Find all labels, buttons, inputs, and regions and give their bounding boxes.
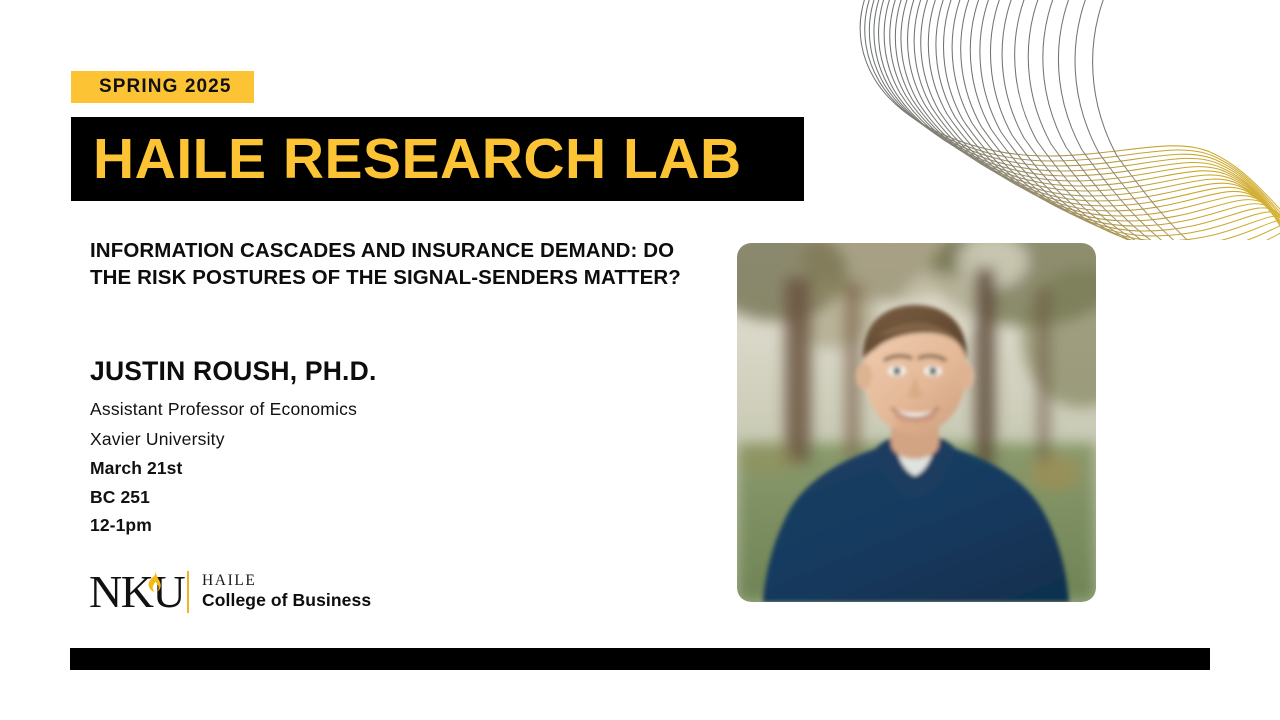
event-flyer-slide: SPRING 2025 HAILE RESEARCH LAB Informati…	[0, 0, 1280, 720]
logo-haile-label: HAILE	[202, 572, 371, 590]
event-date: March 21st	[90, 454, 650, 483]
event-location: BC 251	[90, 483, 650, 512]
season-badge: SPRING 2025	[71, 71, 254, 103]
swirl-lines-decoration	[770, 0, 1280, 240]
event-time: 12-1pm	[90, 511, 650, 540]
nku-letters: NKU	[89, 569, 184, 615]
speaker-details: Justin Roush, Ph.D. Assistant Professor …	[90, 356, 650, 540]
speaker-affiliation: Xavier University	[90, 424, 650, 454]
talk-title: Information Cascades and Insurance Deman…	[90, 237, 690, 292]
logo-college-label: College of Business	[202, 590, 371, 612]
season-badge-label: SPRING 2025	[99, 76, 232, 98]
speaker-photo	[737, 243, 1096, 602]
logo-divider	[187, 571, 189, 613]
nku-haile-logo: NKU HAILE College of Business	[89, 566, 371, 618]
logo-text-group: HAILE College of Business	[202, 572, 371, 613]
speaker-name: Justin Roush, Ph.D.	[90, 356, 650, 388]
speaker-position: Assistant Professor of Economics	[90, 394, 650, 424]
nku-wordmark: NKU	[89, 569, 173, 615]
footer-bar	[70, 648, 1210, 670]
series-title-banner: HAILE RESEARCH LAB	[71, 117, 804, 201]
flame-icon	[146, 571, 161, 592]
series-title-label: HAILE RESEARCH LAB	[93, 131, 742, 188]
